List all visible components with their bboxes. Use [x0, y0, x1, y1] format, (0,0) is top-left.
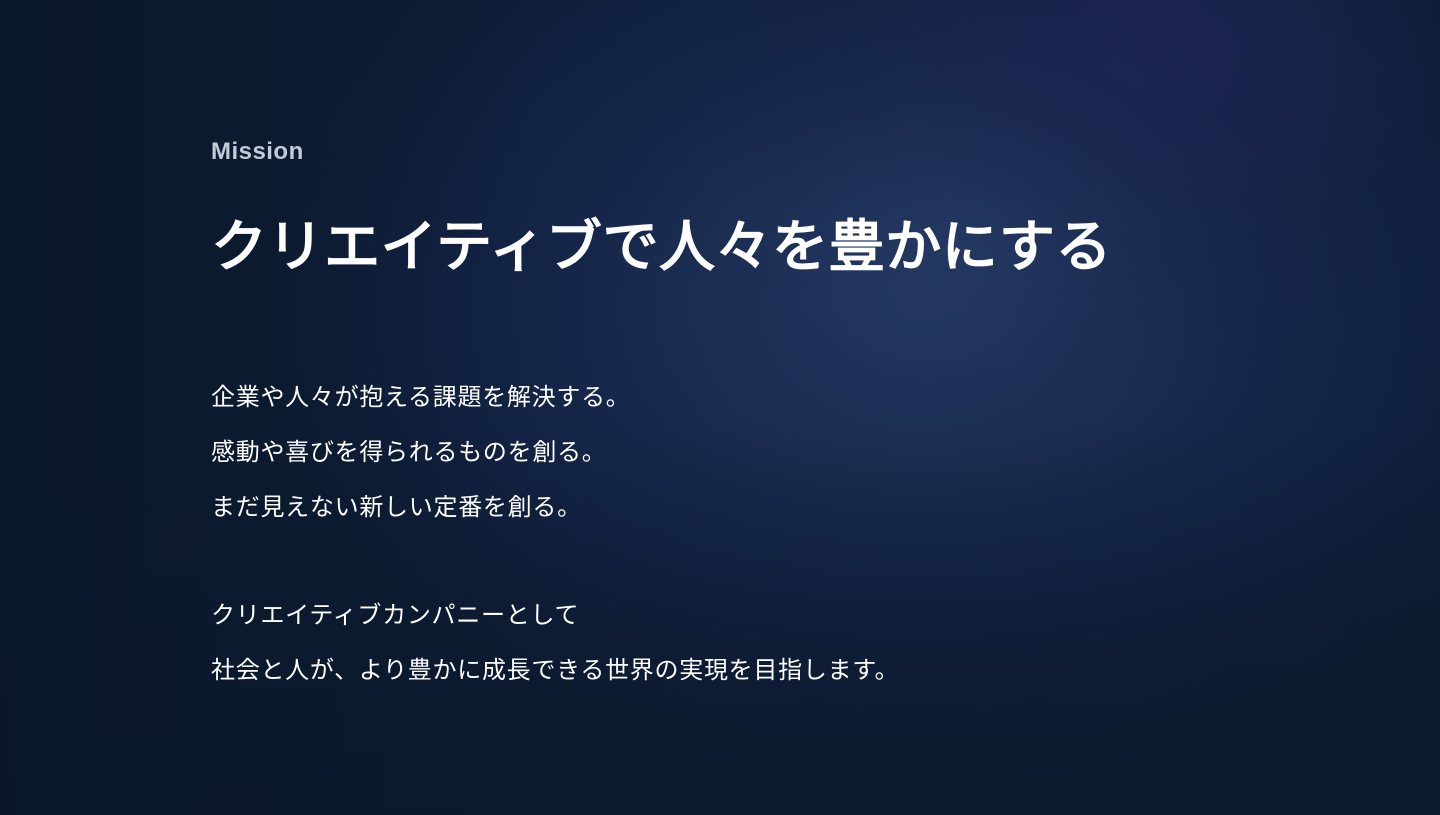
mission-statement-line: 企業や人々が抱える課題を解決する。 — [211, 370, 1211, 425]
page-title: クリエイティブで人々を豊かにする — [211, 212, 1112, 282]
mission-closing-paragraph: クリエイティブカンパニーとして 社会と人が、より豊かに成長できる世界の実現を目指… — [211, 588, 1211, 698]
mission-statement-line: まだ見えない新しい定番を創る。 — [211, 480, 1211, 535]
mission-statement-list: 企業や人々が抱える課題を解決する。 感動や喜びを得られるものを創る。 まだ見えな… — [211, 370, 1211, 535]
mission-closing-line: クリエイティブカンパニーとして — [211, 588, 1211, 643]
mission-slide: Mission クリエイティブで人々を豊かにする 企業や人々が抱える課題を解決す… — [0, 0, 1440, 815]
slide-content: Mission クリエイティブで人々を豊かにする 企業や人々が抱える課題を解決す… — [211, 0, 1331, 815]
section-eyebrow-label: Mission — [211, 138, 304, 167]
mission-statement-line: 感動や喜びを得られるものを創る。 — [211, 425, 1211, 480]
mission-closing-line: 社会と人が、より豊かに成長できる世界の実現を目指します。 — [211, 643, 1211, 698]
